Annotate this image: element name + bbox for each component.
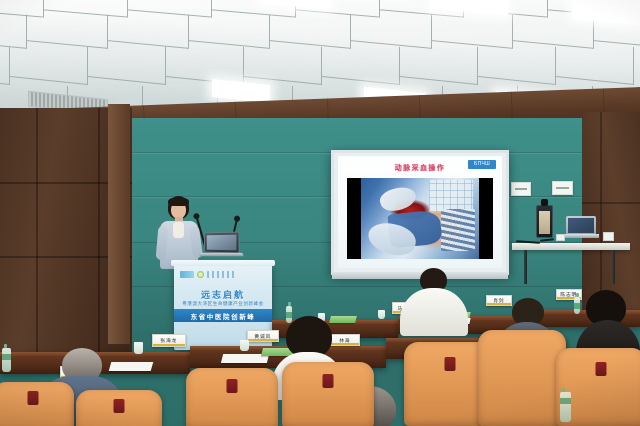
audience-chair-3[interactable] (186, 368, 278, 426)
video-camera-icon (541, 199, 548, 206)
laptop-screen (207, 235, 237, 251)
placard-zhang: 张海龙 (152, 334, 186, 347)
water-bottle-floor (560, 392, 571, 422)
wall-sign-left (511, 182, 531, 196)
slide-corner-logo: БПЧШ (468, 160, 496, 169)
water-bottle-front-1 (2, 348, 11, 372)
control-device-box-b (556, 234, 565, 241)
paper-cup-back-2 (378, 310, 385, 319)
audience-chair-4[interactable] (282, 362, 374, 426)
av-control-table (512, 243, 630, 250)
projection-screen[interactable]: 动脉采血操作 БПЧШ (331, 150, 509, 275)
left-door-frame (108, 104, 130, 344)
video-gloved-hand-upper (377, 183, 418, 215)
presentation-slide: 动脉采血操作 БПЧШ (338, 156, 502, 268)
text-mark-logo-icon (207, 271, 235, 278)
control-laptop[interactable] (566, 216, 598, 240)
podium-band-text: 东省中医院创新峰 (191, 311, 256, 321)
control-monitor[interactable] (536, 205, 553, 238)
podium-blue-band: 东省中医院创新峰 (174, 309, 272, 322)
laptop-keyboard-base (199, 253, 244, 256)
audience-person-far-right (576, 290, 640, 350)
audience-chair-2[interactable] (76, 390, 162, 426)
slide-video-letterbox (347, 178, 493, 259)
conference-room-photo: 动脉采血操作 БПЧШ (0, 0, 640, 426)
audience-person-back-center (400, 268, 468, 328)
podium-laptop[interactable] (203, 232, 241, 258)
control-table-leg-right (612, 250, 615, 284)
presenter-inner-top (173, 222, 184, 238)
podium-headline-text: 远志启航 (174, 288, 272, 301)
paper-cup-front-1 (134, 342, 143, 354)
medical-procedure-video (361, 178, 479, 259)
presenter-hair-front (168, 197, 189, 206)
control-table-leg-left (524, 250, 527, 284)
control-device-box-a (603, 232, 614, 241)
video-background-grid (429, 180, 473, 212)
laptop-lid (204, 231, 240, 253)
wall-sign-right (552, 181, 573, 195)
leaf-emblem-logo-icon (197, 271, 204, 278)
podium-logo-row (180, 269, 266, 280)
podium-top-surface (171, 260, 275, 266)
audience-chair-6[interactable] (478, 330, 566, 426)
audience-chair-1[interactable] (0, 382, 74, 426)
paper-cup-front-2 (240, 340, 249, 351)
wave-logo-icon (180, 271, 194, 278)
video-striped-fabric (441, 209, 475, 251)
person-shoulders (400, 288, 468, 336)
podium-subline-text: 粤港澳大湾区生命健康产业创新峰会 (174, 301, 272, 307)
